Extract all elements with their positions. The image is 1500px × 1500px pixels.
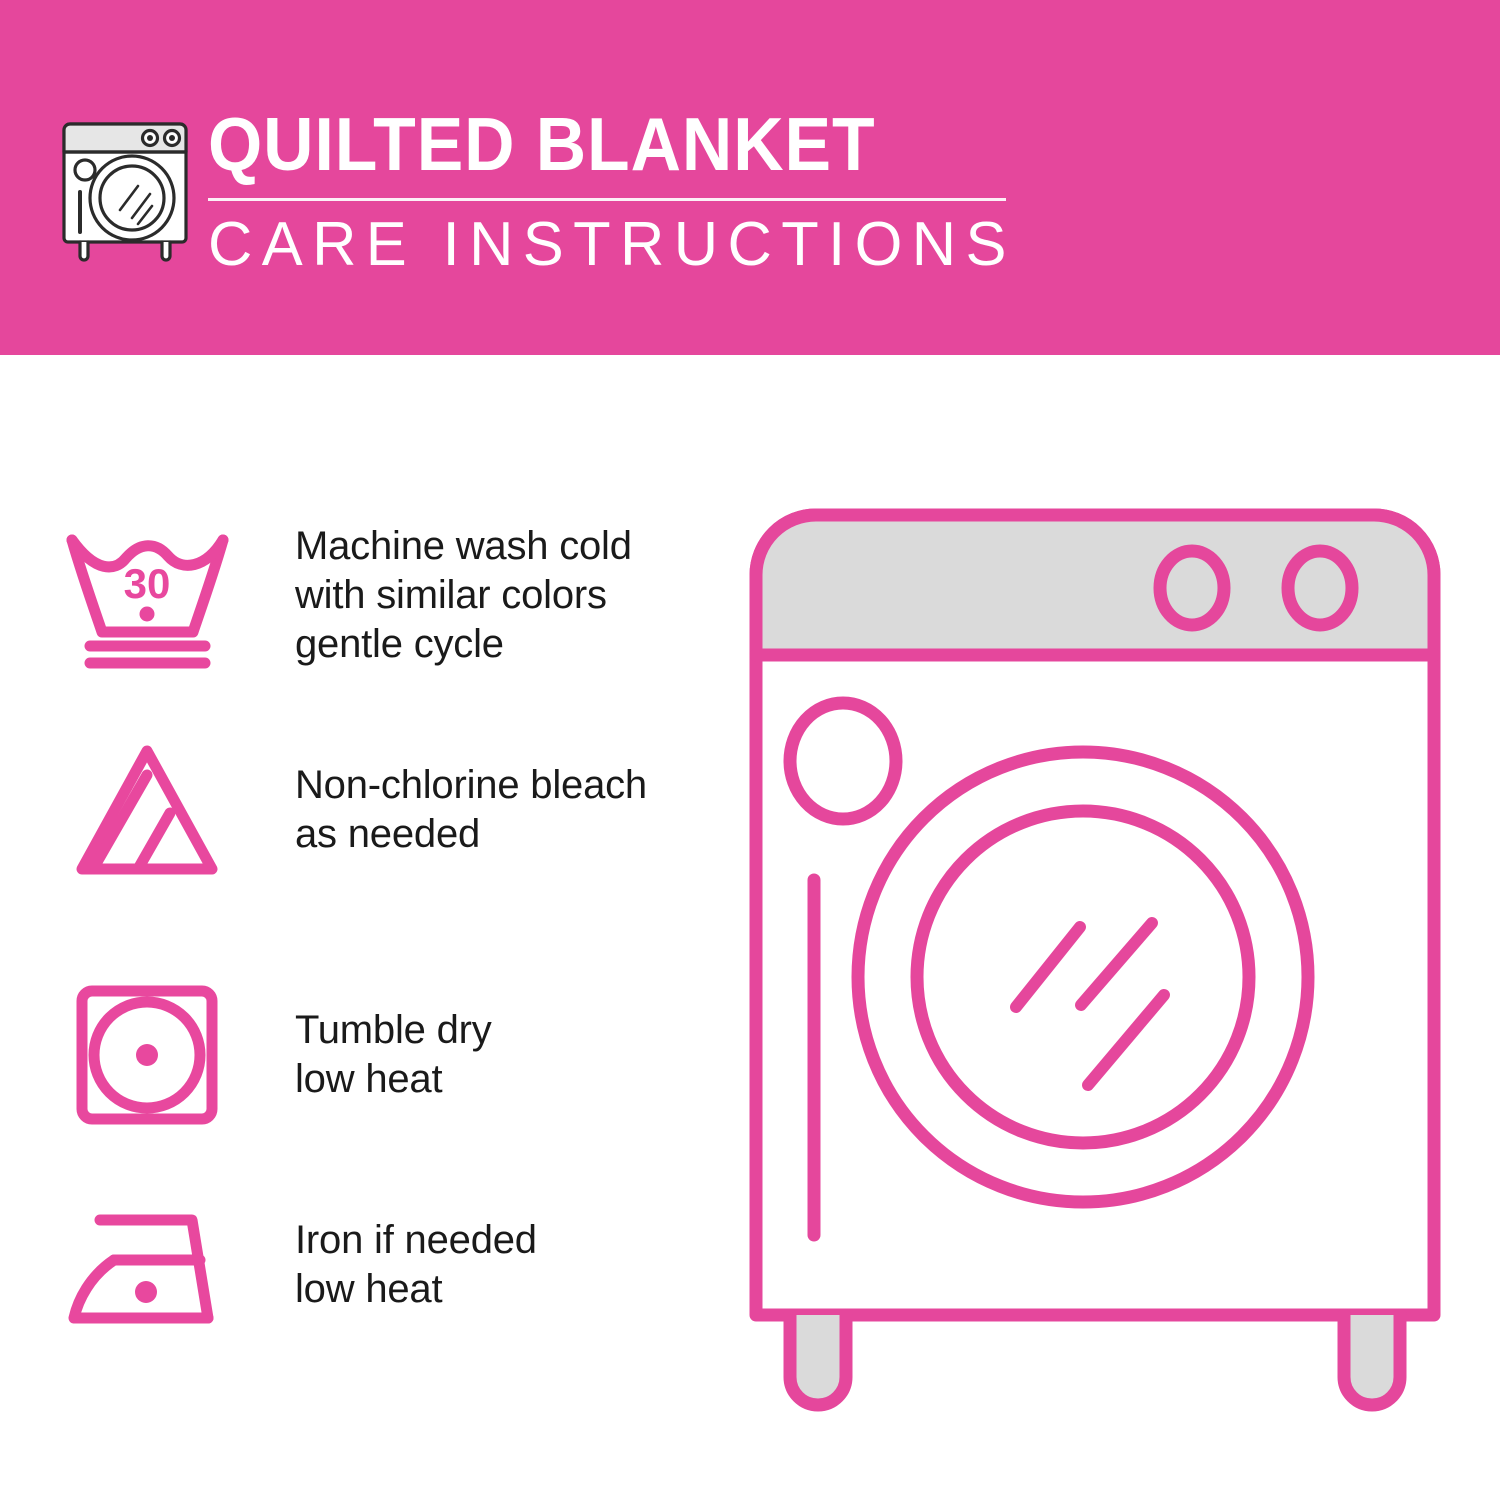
tumble-dry-low-heat-icon [60,970,240,1140]
header-content: QUILTED BLANKET CARE INSTRUCTIONS [60,100,1024,279]
washing-machine-icon [60,100,190,265]
iron-low-heat-icon [60,1180,240,1350]
washer-control-panel [756,515,1434,655]
page-subtitle: CARE INSTRUCTIONS [208,211,1016,279]
front-load-washing-machine-illustration [740,495,1450,1425]
page-title: QUILTED BLANKET [208,104,967,184]
care-item-bleach: Non-chlorine bleach as needed [0,725,720,895]
non-chlorine-bleach-triangle-icon [60,725,240,895]
washer-leg-right [1344,1315,1400,1405]
wash-temperature-value: 30 [124,560,171,607]
wash-tub-30-gentle-icon: 30 [60,510,240,680]
care-item-label: Non-chlorine bleach as needed [295,761,647,859]
care-item-tumble-dry: Tumble dry low heat [0,970,720,1140]
care-item-iron: Iron if needed low heat [0,1180,720,1350]
care-item-label: Tumble dry low heat [295,1006,492,1104]
header-titles: QUILTED BLANKET CARE INSTRUCTIONS [208,100,1024,279]
care-item-label: Iron if needed low heat [295,1216,537,1314]
title-divider [208,198,1006,201]
care-item-label: Machine wash cold with similar colors ge… [295,522,632,669]
header-banner: QUILTED BLANKET CARE INSTRUCTIONS [0,0,1500,355]
care-item-machine-wash: 30 Machine wash cold with similar colors… [0,510,720,680]
washer-leg-left [790,1315,846,1405]
